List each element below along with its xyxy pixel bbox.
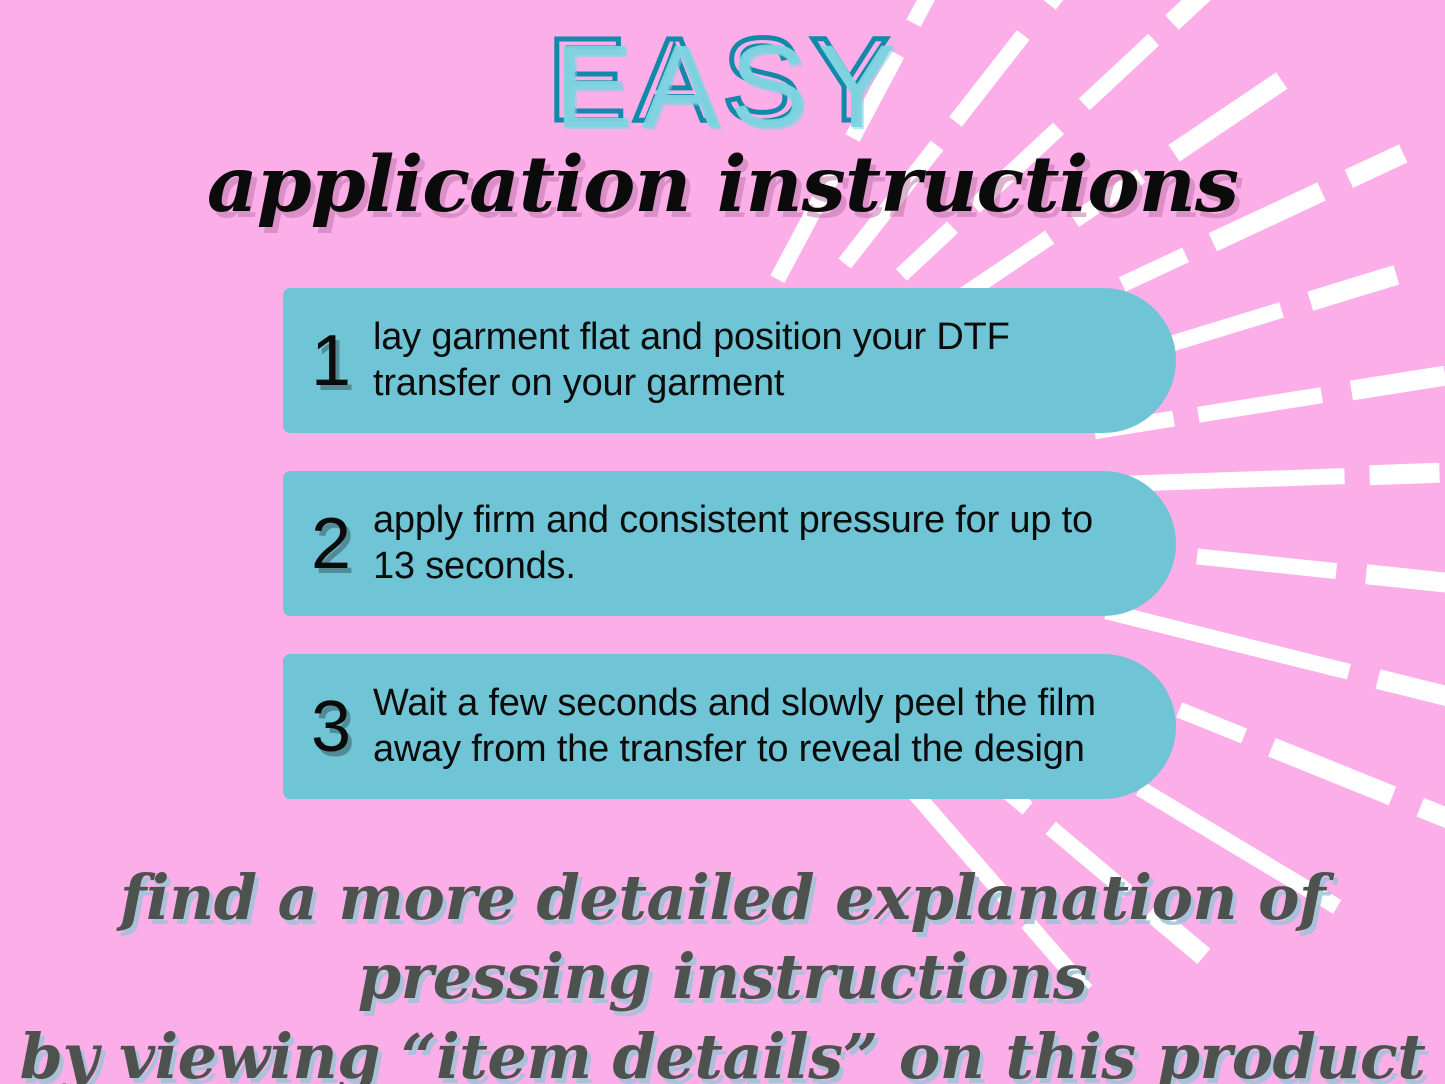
sunburst-ray-dash xyxy=(1366,574,1445,585)
sunburst-ray-dash xyxy=(1272,747,1393,796)
sunburst-ray-dash xyxy=(1378,679,1445,698)
sunburst-ray-dash xyxy=(1370,473,1440,475)
instruction-step-1: 1 lay garment flat and position your DTF… xyxy=(283,288,1176,433)
instruction-steps-list: 1 lay garment flat and position your DTF… xyxy=(283,288,1176,837)
sunburst-ray-dash xyxy=(1197,556,1336,571)
instruction-step-2: 2 apply firm and consistent pressure for… xyxy=(283,471,1176,616)
step-number-2: 2 xyxy=(311,508,373,580)
sunburst-ray-dash xyxy=(1420,807,1445,829)
page-title-easy: EASY xyxy=(0,14,1445,146)
step-text-3: Wait a few seconds and slowly peel the f… xyxy=(373,681,1130,772)
footer-note: find a more detailed explanation of pres… xyxy=(0,858,1445,1084)
step-text-1: lay garment flat and position your DTF t… xyxy=(373,315,1130,406)
sunburst-ray-dash xyxy=(1122,255,1185,285)
page-subtitle-application-instructions: application instructions xyxy=(0,140,1445,230)
step-number-1: 1 xyxy=(311,325,373,397)
sunburst-ray-dash xyxy=(1310,275,1396,301)
sunburst-ray-dash xyxy=(1351,376,1445,391)
footer-line-1: find a more detailed explanation of pres… xyxy=(0,858,1445,1017)
sunburst-ray-dash xyxy=(901,227,952,275)
headline-block: EASY application instructions xyxy=(0,0,1445,230)
instruction-step-3: 3 Wait a few seconds and slowly peel the… xyxy=(283,654,1176,799)
sunburst-ray-dash xyxy=(1179,710,1244,736)
footer-line-2: by viewing “item details” on this produc… xyxy=(0,1017,1445,1084)
step-number-3: 3 xyxy=(311,691,373,763)
sunburst-ray-dash xyxy=(1198,395,1321,415)
step-text-2: apply firm and consistent pressure for u… xyxy=(373,498,1130,589)
